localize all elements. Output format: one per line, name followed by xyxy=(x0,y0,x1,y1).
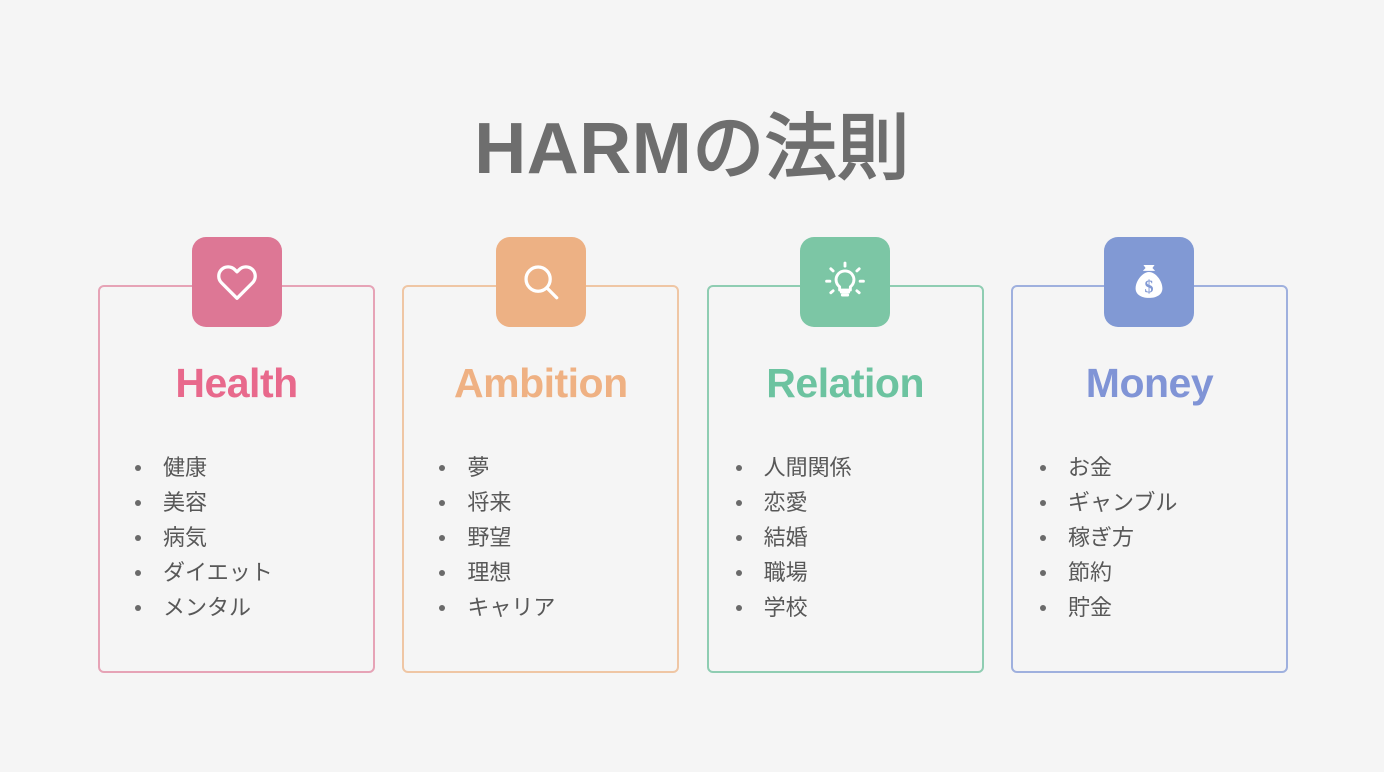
bullet-dot-icon xyxy=(439,465,445,471)
list-item-label: 人間関係 xyxy=(764,455,852,480)
list-item: 貯金 xyxy=(1037,597,1177,619)
card-icon-badge xyxy=(800,237,890,327)
bullet-dot-icon xyxy=(736,500,742,506)
card-item-list: 人間関係 恋愛 結婚 職場 学校 xyxy=(733,457,852,619)
list-item: 節約 xyxy=(1037,562,1177,584)
list-item: 野望 xyxy=(436,527,555,549)
list-item: 病気 xyxy=(132,527,273,549)
card-title: Relation xyxy=(707,360,984,407)
list-item: 夢 xyxy=(436,457,555,479)
list-item-label: 稼ぎ方 xyxy=(1068,525,1134,550)
bullet-dot-icon xyxy=(135,605,141,611)
list-item-label: 恋愛 xyxy=(764,490,808,515)
bullet-dot-icon xyxy=(736,570,742,576)
svg-text:$: $ xyxy=(1145,277,1154,297)
bullet-dot-icon xyxy=(439,605,445,611)
list-item-label: ダイエット xyxy=(163,560,273,585)
bullet-dot-icon xyxy=(439,535,445,541)
list-item-label: 病気 xyxy=(163,525,207,550)
list-item-label: ギャンブル xyxy=(1068,490,1177,515)
slide-canvas: HARMの法則 Health 健康 美容 病気 ダイエット メンタル xyxy=(0,0,1384,772)
list-item: 結婚 xyxy=(733,527,852,549)
list-item: 将来 xyxy=(436,492,555,514)
list-item-label: お金 xyxy=(1068,455,1112,480)
card-item-list: 健康 美容 病気 ダイエット メンタル xyxy=(132,457,273,619)
bullet-dot-icon xyxy=(736,465,742,471)
card-title: Money xyxy=(1011,360,1288,407)
list-item-label: 結婚 xyxy=(764,525,808,550)
bullet-dot-icon xyxy=(1040,570,1046,576)
list-item: 稼ぎ方 xyxy=(1037,527,1177,549)
bullet-dot-icon xyxy=(439,500,445,506)
list-item: 恋愛 xyxy=(733,492,852,514)
bullet-dot-icon xyxy=(1040,500,1046,506)
list-item-label: 学校 xyxy=(764,595,808,620)
card-relation[interactable]: Relation 人間関係 恋愛 結婚 職場 学校 xyxy=(707,237,984,673)
page-title: HARMの法則 xyxy=(0,110,1384,189)
bullet-dot-icon xyxy=(1040,605,1046,611)
list-item: 職場 xyxy=(733,562,852,584)
list-item-label: 理想 xyxy=(467,560,511,585)
list-item-label: 節約 xyxy=(1068,560,1112,585)
list-item: ダイエット xyxy=(132,562,273,584)
list-item-label: 美容 xyxy=(163,490,207,515)
money-bag-icon: $ xyxy=(1126,259,1172,305)
list-item-label: 将来 xyxy=(467,490,511,515)
list-item-label: キャリア xyxy=(467,595,555,620)
list-item-label: メンタル xyxy=(163,595,251,620)
card-title: Ambition xyxy=(402,360,679,407)
card-item-list: 夢 将来 野望 理想 キャリア xyxy=(436,457,555,619)
list-item: 理想 xyxy=(436,562,555,584)
list-item: キャリア xyxy=(436,597,555,619)
search-icon xyxy=(518,259,564,305)
heart-icon xyxy=(214,259,260,305)
bullet-dot-icon xyxy=(135,570,141,576)
list-item: 健康 xyxy=(132,457,273,479)
card-item-list: お金 ギャンブル 稼ぎ方 節約 貯金 xyxy=(1037,457,1177,619)
bullet-dot-icon xyxy=(135,535,141,541)
list-item: お金 xyxy=(1037,457,1177,479)
lightbulb-icon xyxy=(822,259,868,305)
list-item: 美容 xyxy=(132,492,273,514)
list-item-label: 夢 xyxy=(467,455,489,480)
bullet-dot-icon xyxy=(736,605,742,611)
card-icon-badge xyxy=(496,237,586,327)
list-item-label: 健康 xyxy=(163,455,207,480)
harm-card-row: Health 健康 美容 病気 ダイエット メンタル Ambitio xyxy=(98,237,1288,673)
bullet-dot-icon xyxy=(135,465,141,471)
bullet-dot-icon xyxy=(135,500,141,506)
card-health[interactable]: Health 健康 美容 病気 ダイエット メンタル xyxy=(98,237,375,673)
card-ambition[interactable]: Ambition 夢 将来 野望 理想 キャリア xyxy=(402,237,679,673)
list-item: メンタル xyxy=(132,597,273,619)
bullet-dot-icon xyxy=(736,535,742,541)
card-title: Health xyxy=(98,360,375,407)
list-item: 学校 xyxy=(733,597,852,619)
bullet-dot-icon xyxy=(1040,535,1046,541)
list-item: 人間関係 xyxy=(733,457,852,479)
card-money[interactable]: $ Money お金 ギャンブル 稼ぎ方 節約 貯金 xyxy=(1011,237,1288,673)
list-item: ギャンブル xyxy=(1037,492,1177,514)
bullet-dot-icon xyxy=(439,570,445,576)
list-item-label: 職場 xyxy=(764,560,808,585)
bullet-dot-icon xyxy=(1040,465,1046,471)
card-icon-badge: $ xyxy=(1104,237,1194,327)
list-item-label: 貯金 xyxy=(1068,595,1112,620)
card-icon-badge xyxy=(192,237,282,327)
list-item-label: 野望 xyxy=(467,525,511,550)
